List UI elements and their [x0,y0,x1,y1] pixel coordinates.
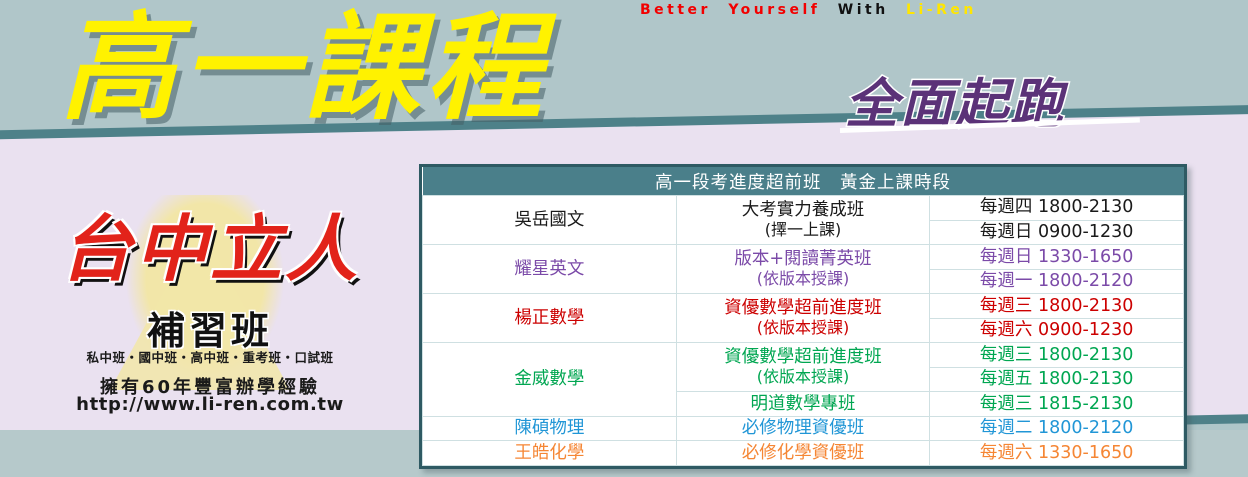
course-name: 必修物理資優班 [742,418,865,438]
cell-time: 每週六 1330-1650 [930,441,1184,466]
cell-teacher: 陳碩物理 [423,416,677,441]
table-row: 陳碩物理必修物理資優班每週二 1800-2120 [423,416,1184,441]
cell-course: 必修物理資優班 [676,416,930,441]
table-header-row: 高一段考進度超前班 黃金上課時段 [423,167,1184,196]
cell-course: 明道數學專班 [676,392,930,417]
cell-course: 版本+閱讀菁英班(依版本授課) [676,245,930,294]
schedule-table: 高一段考進度超前班 黃金上課時段 吳岳國文大考實力養成班(擇一上課)每週四 18… [422,167,1184,466]
table-row: 楊正數學資優數學超前進度班(依版本授課)每週三 1800-2130 [423,294,1184,319]
logo-website-url: http://www.li-ren.com.tw [20,394,400,415]
course-note: (擇一上課) [679,221,928,240]
cell-time: 每週一 1800-2120 [930,269,1184,294]
cell-teacher: 王皓化學 [423,441,677,466]
tagline-word-better: Better [640,2,711,18]
course-name: 資優數學超前進度班 [724,347,882,367]
schedule-header-title: 高一段考進度超前班 黃金上課時段 [423,167,1184,196]
logo-brand-name: 台中立人 [20,213,400,285]
hero-title: 高一課程 [60,8,548,130]
cell-course: 大考實力養成班(擇一上課) [676,196,930,245]
banner-root: Better Yourself With Li-Ren 高一課程 全面起跑 台中… [0,0,1248,477]
cell-time: 每週六 0900-1230 [930,318,1184,343]
course-name: 必修化學資優班 [742,443,865,463]
cell-time: 每週五 1800-2130 [930,367,1184,392]
schedule-table-head: 高一段考進度超前班 黃金上課時段 [423,167,1184,196]
tagline: Better Yourself With Li-Ren [640,2,986,18]
tagline-word-yourself: Yourself [728,2,820,18]
cell-time: 每週三 1815-2130 [930,392,1184,417]
cell-course: 資優數學超前進度班(依版本授課) [676,294,930,343]
logo-class-list: 私中班・國中班・高中班・重考班・口試班 [20,347,400,366]
course-note: (依版本授課) [679,368,928,387]
course-note: (依版本授課) [679,270,928,289]
tagline-word-with: With [838,2,889,18]
cell-time: 每週日 0900-1230 [930,220,1184,245]
cell-time: 每週二 1800-2120 [930,416,1184,441]
cell-time: 每週日 1330-1650 [930,245,1184,270]
course-name: 版本+閱讀菁英班 [734,249,871,269]
cell-teacher: 金威數學 [423,343,677,417]
cell-time: 每週四 1800-2130 [930,196,1184,221]
cell-teacher: 耀星英文 [423,245,677,294]
schedule-table-body: 吳岳國文大考實力養成班(擇一上課)每週四 1800-2130每週日 0900-1… [423,196,1184,466]
cell-teacher: 吳岳國文 [423,196,677,245]
schedule-table-card: 高一段考進度超前班 黃金上課時段 吳岳國文大考實力養成班(擇一上課)每週四 18… [419,164,1187,469]
course-note: (依版本授課) [679,319,928,338]
table-row: 吳岳國文大考實力養成班(擇一上課)每週四 1800-2130 [423,196,1184,221]
cell-time: 每週三 1800-2130 [930,294,1184,319]
tagline-word-liren: Li-Ren [906,2,977,18]
logo-block: 台中立人 補習班 私中班・國中班・高中班・重考班・口試班 擁有60年豐富辦學經驗… [20,195,400,420]
table-row: 金威數學資優數學超前進度班(依版本授課)每週三 1800-2130 [423,343,1184,368]
cell-course: 資優數學超前進度班(依版本授課) [676,343,930,392]
course-name: 資優數學超前進度班 [724,298,882,318]
course-name: 大考實力養成班 [742,200,865,220]
cell-teacher: 楊正數學 [423,294,677,343]
cell-course: 必修化學資優班 [676,441,930,466]
cell-time: 每週三 1800-2130 [930,343,1184,368]
table-row: 王皓化學必修化學資優班每週六 1330-1650 [423,441,1184,466]
table-row: 耀星英文版本+閱讀菁英班(依版本授課)每週日 1330-1650 [423,245,1184,270]
